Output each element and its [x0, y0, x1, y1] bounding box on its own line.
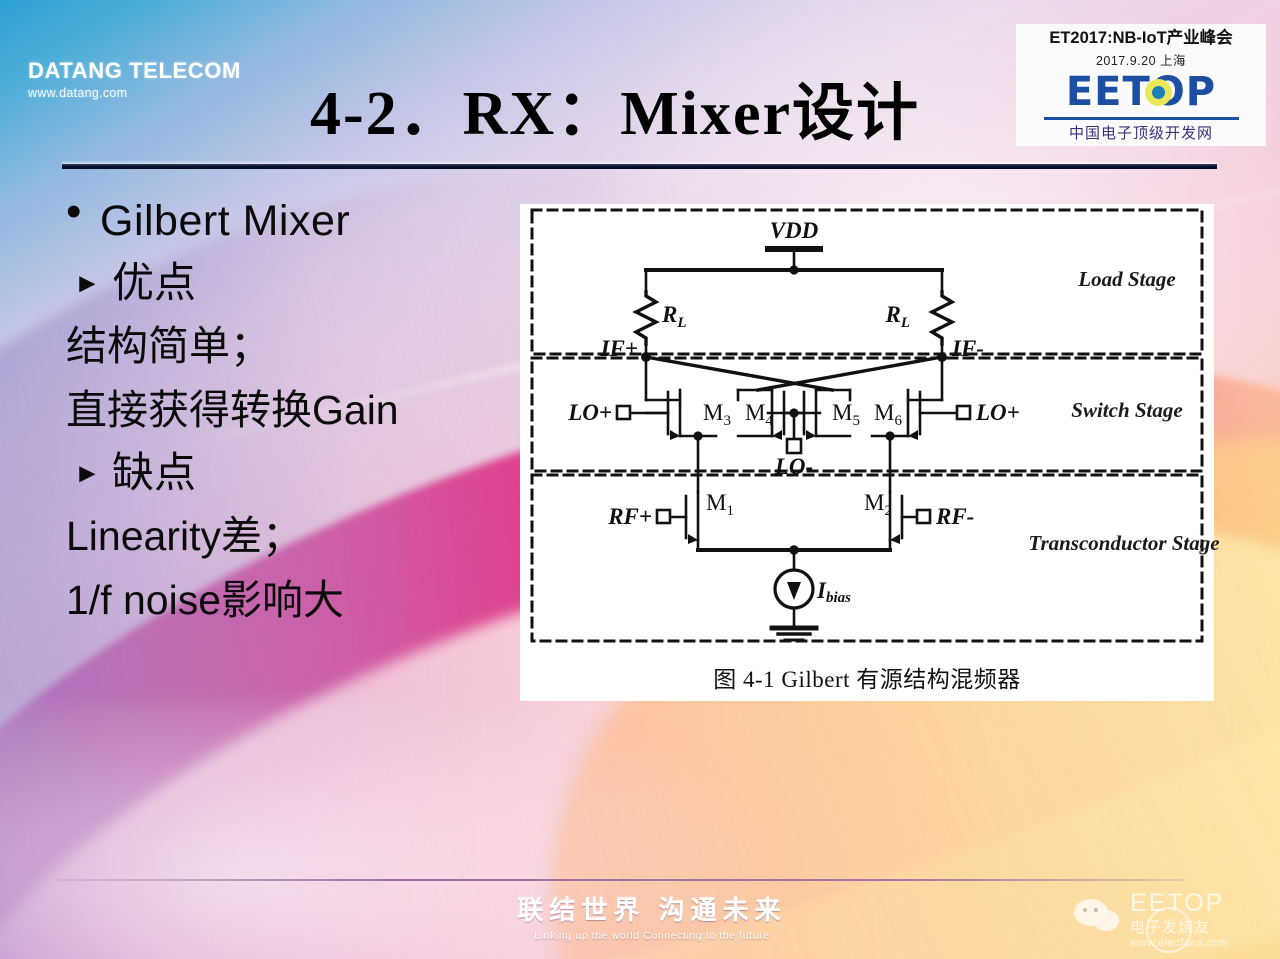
list-item: • Gilbert Mixer [66, 190, 536, 252]
bullet-text: 1/f noise影响大 [66, 568, 344, 632]
watermark-text: EETOP 电子发烧友 www.elecfans.com [1130, 891, 1229, 949]
label-if-minus: IF- [951, 336, 984, 361]
title-divider [62, 164, 1217, 169]
label-m2: M2 [864, 490, 892, 519]
label-m4: M4 [745, 400, 773, 429]
label-rf-plus: RF+ [607, 504, 652, 529]
slogan-cn: 联结世界 沟通未来 [512, 890, 792, 927]
badge-cn-name: 中国电子顶级开发网 [1016, 122, 1266, 143]
label-rf-minus: RF- [935, 504, 974, 529]
list-item: ► 优点 [66, 252, 536, 314]
stage-label-switch: Switch Stage [1037, 398, 1217, 422]
slogan-en: Linking up the world Connecting to the f… [512, 930, 792, 942]
background-glow-bottom-left [0, 700, 1020, 959]
label-m1: M1 [706, 490, 734, 519]
label-ibias: Ibias [816, 578, 851, 606]
list-item: ► 缺点 [66, 442, 536, 504]
label-m3: M3 [703, 400, 731, 429]
label-rl-right: RL [884, 302, 910, 331]
wechat-icon [1072, 895, 1130, 945]
label-if-plus: IF+ [600, 336, 638, 361]
current-direction-arrow-icon [787, 582, 801, 600]
label-lo-plus-left: LO+ [567, 400, 612, 425]
bullet-dot-icon: • [66, 190, 100, 234]
label-m5: M5 [832, 400, 860, 429]
badge-logo-wrap: EETOP [1016, 70, 1266, 116]
watermark: EETOP 电子发烧友 www.elecfans.com [1072, 885, 1272, 955]
bullet-triangle-icon: ► [66, 442, 112, 504]
eetop-logo-text: EETOP [1016, 70, 1266, 114]
list-item: 1/f noise影响大 [66, 568, 536, 632]
slide-canvas: DATANG TELECOM www.datang.com 4-2．RX：Mix… [0, 0, 1280, 959]
conference-badge: ET2017:NB-IoT产业峰会 2017.9.20 上海 EETOP 中国电… [1016, 24, 1266, 146]
list-item: 结构简单； [66, 314, 536, 378]
bullet-text: 缺点 [112, 442, 196, 504]
eetop-logo-dot-icon [1145, 79, 1172, 106]
stage-label-transconductor: Transconductor Stage [1026, 531, 1222, 555]
bullet-text: Linearity差； [66, 504, 303, 568]
bullet-triangle-icon: ► [66, 252, 112, 314]
label-vdd: VDD [770, 218, 819, 243]
label-m6: M6 [874, 400, 902, 429]
watermark-circle-icon [1146, 907, 1192, 953]
bullet-text: 直接获得转换Gain [66, 378, 399, 442]
label-lo-plus-right: LO+ [975, 400, 1020, 425]
list-item: Linearity差； [66, 504, 536, 568]
stage-label-load: Load Stage [1037, 267, 1217, 291]
badge-fineprint: 网站 论坛 微信公众号 电子科技1商务英才 公众号 [1016, 145, 1266, 146]
label-lo-minus: LO- [774, 454, 813, 479]
bullet-list: • Gilbert Mixer ► 优点 结构简单； 直接获得转换Gain ► … [66, 190, 536, 632]
label-rl-left: RL [661, 302, 687, 331]
badge-event-date: 2017.9.20 上海 [1016, 50, 1266, 69]
badge-underline [1044, 117, 1239, 120]
badge-event-name: ET2017:NB-IoT产业峰会 [1016, 29, 1266, 48]
footer-divider [56, 879, 1184, 881]
footer-slogan: 联结世界 沟通未来 Linking up the world Connectin… [512, 890, 792, 942]
bullet-text: 优点 [112, 252, 196, 314]
figure-caption: 图 4-1 Gilbert 有源结构混频器 [520, 660, 1214, 694]
bullet-text: Gilbert Mixer [100, 190, 350, 252]
bullet-text: 结构简单； [66, 314, 271, 378]
list-item: 直接获得转换Gain [66, 378, 536, 442]
